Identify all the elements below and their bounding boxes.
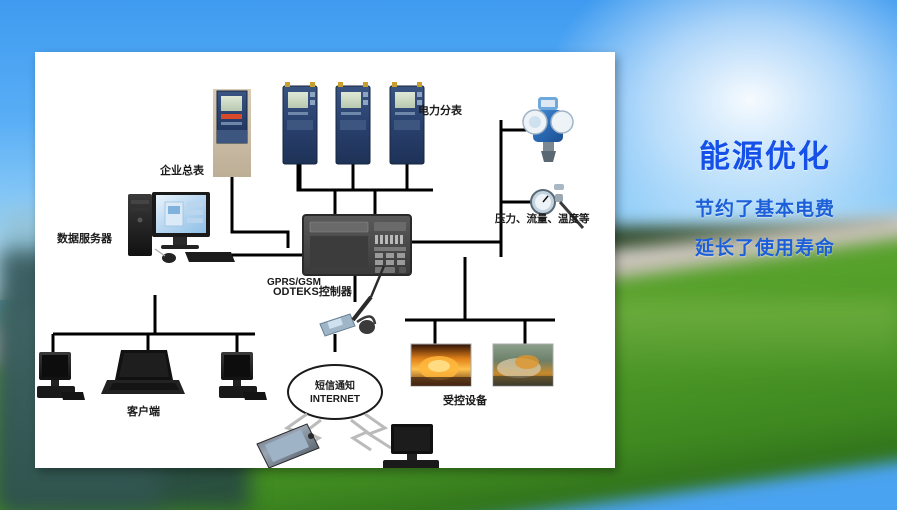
- node-enterprise-meter: [213, 89, 251, 177]
- label-client: 客户端: [126, 404, 160, 418]
- node-pressure-transmitter: [523, 97, 573, 162]
- label-data-server: 数据服务器: [57, 231, 113, 245]
- slide-copy: 能源优化 节约了基本电费 延长了使用寿命: [640, 140, 890, 258]
- label-internet-line1: 短信通知: [315, 379, 355, 392]
- diagram-panel: 企业总表 电力分表: [35, 52, 615, 468]
- node-odteks-controller: [303, 215, 411, 275]
- node-mobile-phone: [257, 424, 319, 468]
- node-furnace-1: [411, 344, 471, 386]
- node-power-submeter-1: [283, 82, 317, 164]
- node-client-monitor-left: [37, 352, 85, 400]
- label-gprs-gsm: GPRS/GSM: [267, 277, 321, 288]
- node-internet-cloud: 短信通知 INTERNET: [288, 365, 382, 419]
- label-internet-line2: INTERNET: [310, 394, 360, 405]
- node-remote-pc: [383, 424, 447, 468]
- page-title: 能源优化: [640, 140, 890, 174]
- subline-2: 延长了使用寿命: [640, 239, 890, 258]
- label-sensors: 压力、流量、温度等: [495, 212, 590, 225]
- label-power-submeter: 电力分表: [418, 103, 463, 117]
- node-data-server: [128, 192, 235, 263]
- node-gprs-modem: [320, 266, 384, 336]
- node-power-submeter-3: [390, 82, 424, 164]
- node-client-monitor-right: [219, 352, 267, 400]
- node-client-laptop: [101, 350, 185, 394]
- label-enterprise-meter: 企业总表: [159, 163, 205, 177]
- subline-1: 节约了基本电费: [640, 200, 890, 219]
- label-controlled-equipment: 受控设备: [443, 393, 488, 407]
- node-power-submeter-2: [336, 82, 370, 164]
- node-furnace-2: [493, 344, 553, 386]
